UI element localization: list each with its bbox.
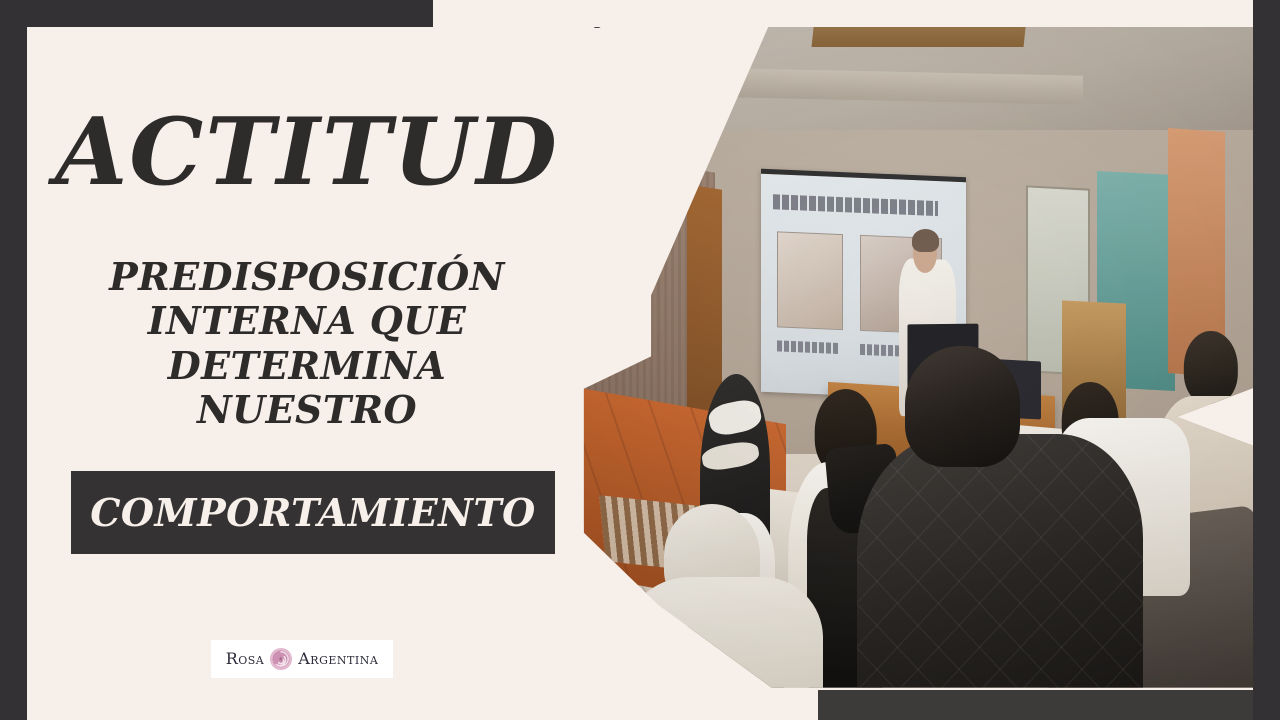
logo-text-argentina: Argentina bbox=[298, 651, 378, 667]
logo-text-rosa: Rosa bbox=[226, 651, 265, 667]
rose-icon bbox=[268, 646, 294, 672]
frame-top-cream-gap bbox=[433, 0, 1253, 27]
subtitle-line-1: PREDISPOSICIÓN bbox=[57, 255, 557, 299]
subtitle-line-3: DETERMINA bbox=[57, 344, 557, 388]
slide-canvas: ACTITUD PREDISPOSICIÓN INTERNA QUE DETER… bbox=[0, 0, 1280, 720]
subtitle: PREDISPOSICIÓN INTERNA QUE DETERMINA NUE… bbox=[57, 255, 557, 433]
banner-label: COMPORTAMIENTO bbox=[90, 490, 536, 535]
subtitle-line-2: INTERNA QUE bbox=[57, 299, 557, 343]
frame-border-right bbox=[1253, 0, 1280, 720]
highlight-banner: COMPORTAMIENTO bbox=[71, 471, 555, 554]
subtitle-line-4: NUESTRO bbox=[57, 388, 557, 432]
text-column: ACTITUD PREDISPOSICIÓN INTERNA QUE DETER… bbox=[27, 27, 587, 720]
frame-border-left bbox=[0, 0, 27, 720]
page-title: ACTITUD bbox=[27, 105, 587, 198]
brand-logo: Rosa Argentina bbox=[211, 640, 393, 678]
